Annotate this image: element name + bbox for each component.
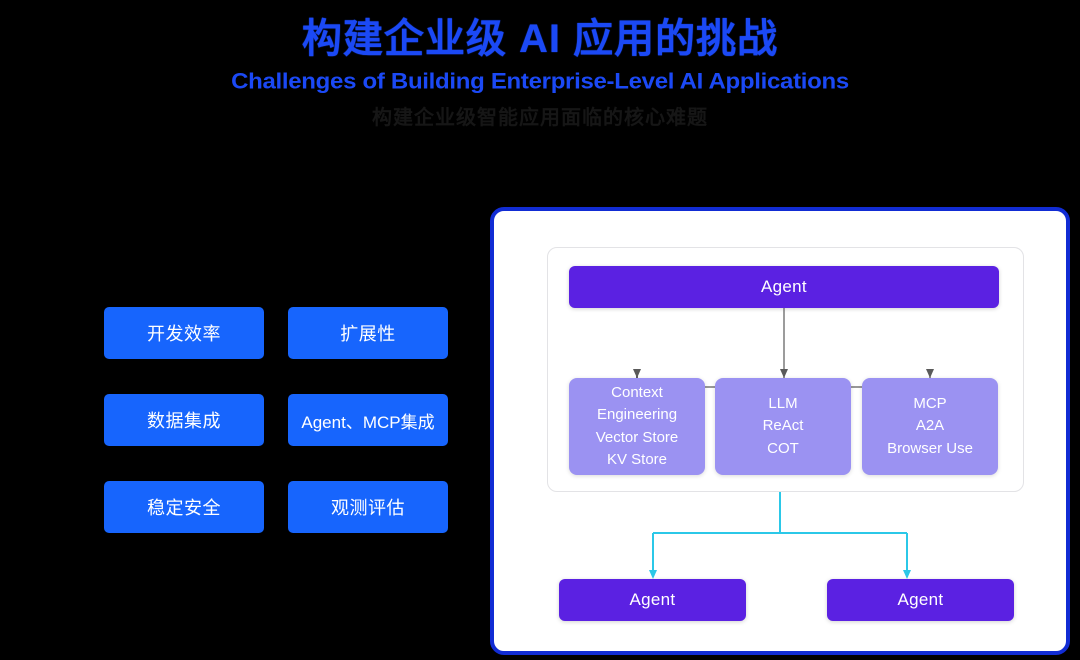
capability-card-llm[interactable]: LLM ReAct COT	[715, 378, 851, 475]
agent-root-node[interactable]: Agent	[569, 266, 999, 308]
capability-line: Vector Store	[596, 427, 679, 449]
page-subtitle-english: Challenges of Building Enterprise-Level …	[0, 65, 1080, 96]
sub-agent-node-left[interactable]: Agent	[559, 579, 746, 621]
sub-agent-label: Agent	[898, 590, 944, 610]
agent-architecture-diagram: Agent	[490, 207, 1070, 655]
page-subtitle-chinese: 构建企业级智能应用面临的核心难题	[0, 97, 1080, 131]
sub-agent-node-right[interactable]: Agent	[827, 579, 1014, 621]
capability-card-context[interactable]: Context Engineering Vector Store KV Stor…	[569, 378, 705, 475]
title-block: 构建企业级 AI 应用的挑战 Challenges of Building En…	[0, 0, 1080, 131]
page-title: 构建企业级 AI 应用的挑战	[0, 0, 1080, 64]
challenge-pill-label: 数据集成	[147, 407, 221, 433]
challenge-pill-label: 观测评估	[331, 494, 405, 520]
capability-line: MCP	[913, 393, 946, 415]
challenge-pill-observability-eval[interactable]: 观测评估	[288, 481, 448, 533]
capability-line: COT	[767, 438, 799, 460]
challenge-pill-data-integration[interactable]: 数据集成	[104, 394, 264, 446]
capability-line: LLM	[768, 393, 797, 415]
agent-core-card: Agent	[547, 247, 1024, 492]
challenge-pill-label: Agent、MCP集成	[301, 408, 434, 433]
sub-agent-label: Agent	[630, 590, 676, 610]
challenge-pill-label: 开发效率	[147, 320, 221, 346]
capability-line: A2A	[916, 415, 944, 437]
challenge-pill-label: 稳定安全	[147, 494, 221, 520]
challenge-pill-stability-security[interactable]: 稳定安全	[104, 481, 264, 533]
challenge-pill-agent-mcp-integration[interactable]: Agent、MCP集成	[288, 394, 448, 446]
challenge-pill-scalability[interactable]: 扩展性	[288, 307, 448, 359]
challenge-pill-dev-efficiency[interactable]: 开发效率	[104, 307, 264, 359]
challenge-pill-label: 扩展性	[340, 320, 396, 346]
challenge-pill-grid: 开发效率 扩展性 数据集成 Agent、MCP集成 稳定安全 观测评估	[104, 307, 448, 533]
capability-line: ReAct	[763, 415, 804, 437]
capability-line: KV Store	[607, 449, 667, 471]
agent-root-label: Agent	[761, 277, 807, 297]
capability-line: Browser Use	[887, 438, 973, 460]
capability-line: Engineering	[597, 404, 677, 426]
capability-line: Context	[611, 382, 663, 404]
capability-card-tools[interactable]: MCP A2A Browser Use	[862, 378, 998, 475]
